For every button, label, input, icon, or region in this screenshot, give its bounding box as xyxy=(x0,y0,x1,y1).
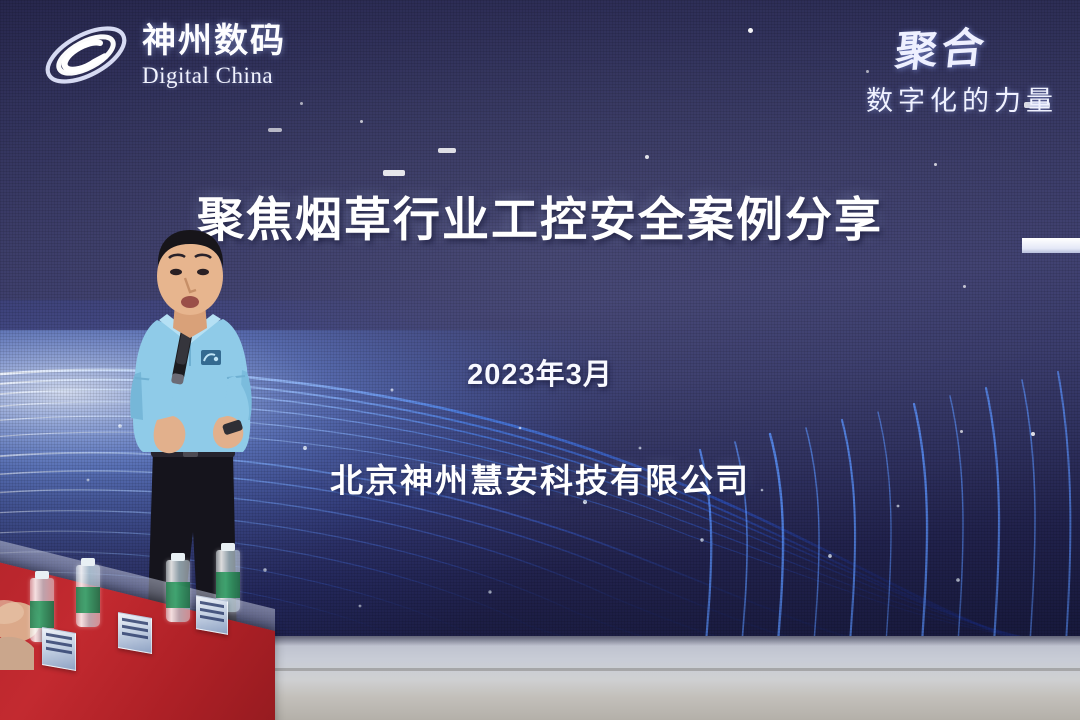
bottle-label xyxy=(216,572,240,598)
particle-dash xyxy=(268,128,282,132)
brand-name-en: Digital China xyxy=(142,64,286,87)
bottle-cap xyxy=(221,543,234,551)
presenter-eye-left xyxy=(170,269,182,275)
bottle-cap xyxy=(35,571,48,579)
conference-photo-scene: 神州数码 Digital China 聚合 数字化的力量 聚焦烟草行业工控安全案… xyxy=(0,0,1080,720)
particle-dot xyxy=(748,28,753,33)
digital-china-spiral-icon xyxy=(40,18,132,92)
presenter-hand-left xyxy=(154,416,186,453)
bottle-label xyxy=(76,587,100,613)
particle-dot xyxy=(934,163,937,166)
bottle-body xyxy=(76,565,100,627)
presenter-mouth-open xyxy=(181,296,199,308)
bottle-body xyxy=(166,560,190,622)
particle-dot xyxy=(645,155,649,159)
bottle-label xyxy=(166,582,190,608)
slogan-subtitle: 数字化的力量 xyxy=(866,79,1058,118)
water-bottle xyxy=(76,565,100,627)
bottle-cap xyxy=(171,553,184,561)
particle-dot xyxy=(300,102,303,105)
brand-text-block: 神州数码 Digital China xyxy=(142,24,286,87)
shirt-chest-logo xyxy=(201,350,221,365)
particle-dash xyxy=(438,148,456,153)
name-card xyxy=(196,595,228,635)
name-card xyxy=(118,612,152,654)
slogan-calligraphy: 聚合 xyxy=(892,14,991,80)
water-bottle xyxy=(166,560,190,622)
presenter-eye-right xyxy=(197,269,209,275)
name-card xyxy=(42,627,76,671)
particle-dot xyxy=(360,120,363,123)
event-slogan: 聚合 数字化的力量 xyxy=(866,16,1058,118)
bottle-label xyxy=(30,601,54,628)
bottle-cap xyxy=(81,558,94,566)
brand-logo: 神州数码 Digital China xyxy=(40,18,286,92)
particle-dash xyxy=(383,170,405,176)
particle-dot xyxy=(963,285,966,288)
brand-name-cn: 神州数码 xyxy=(142,24,286,58)
